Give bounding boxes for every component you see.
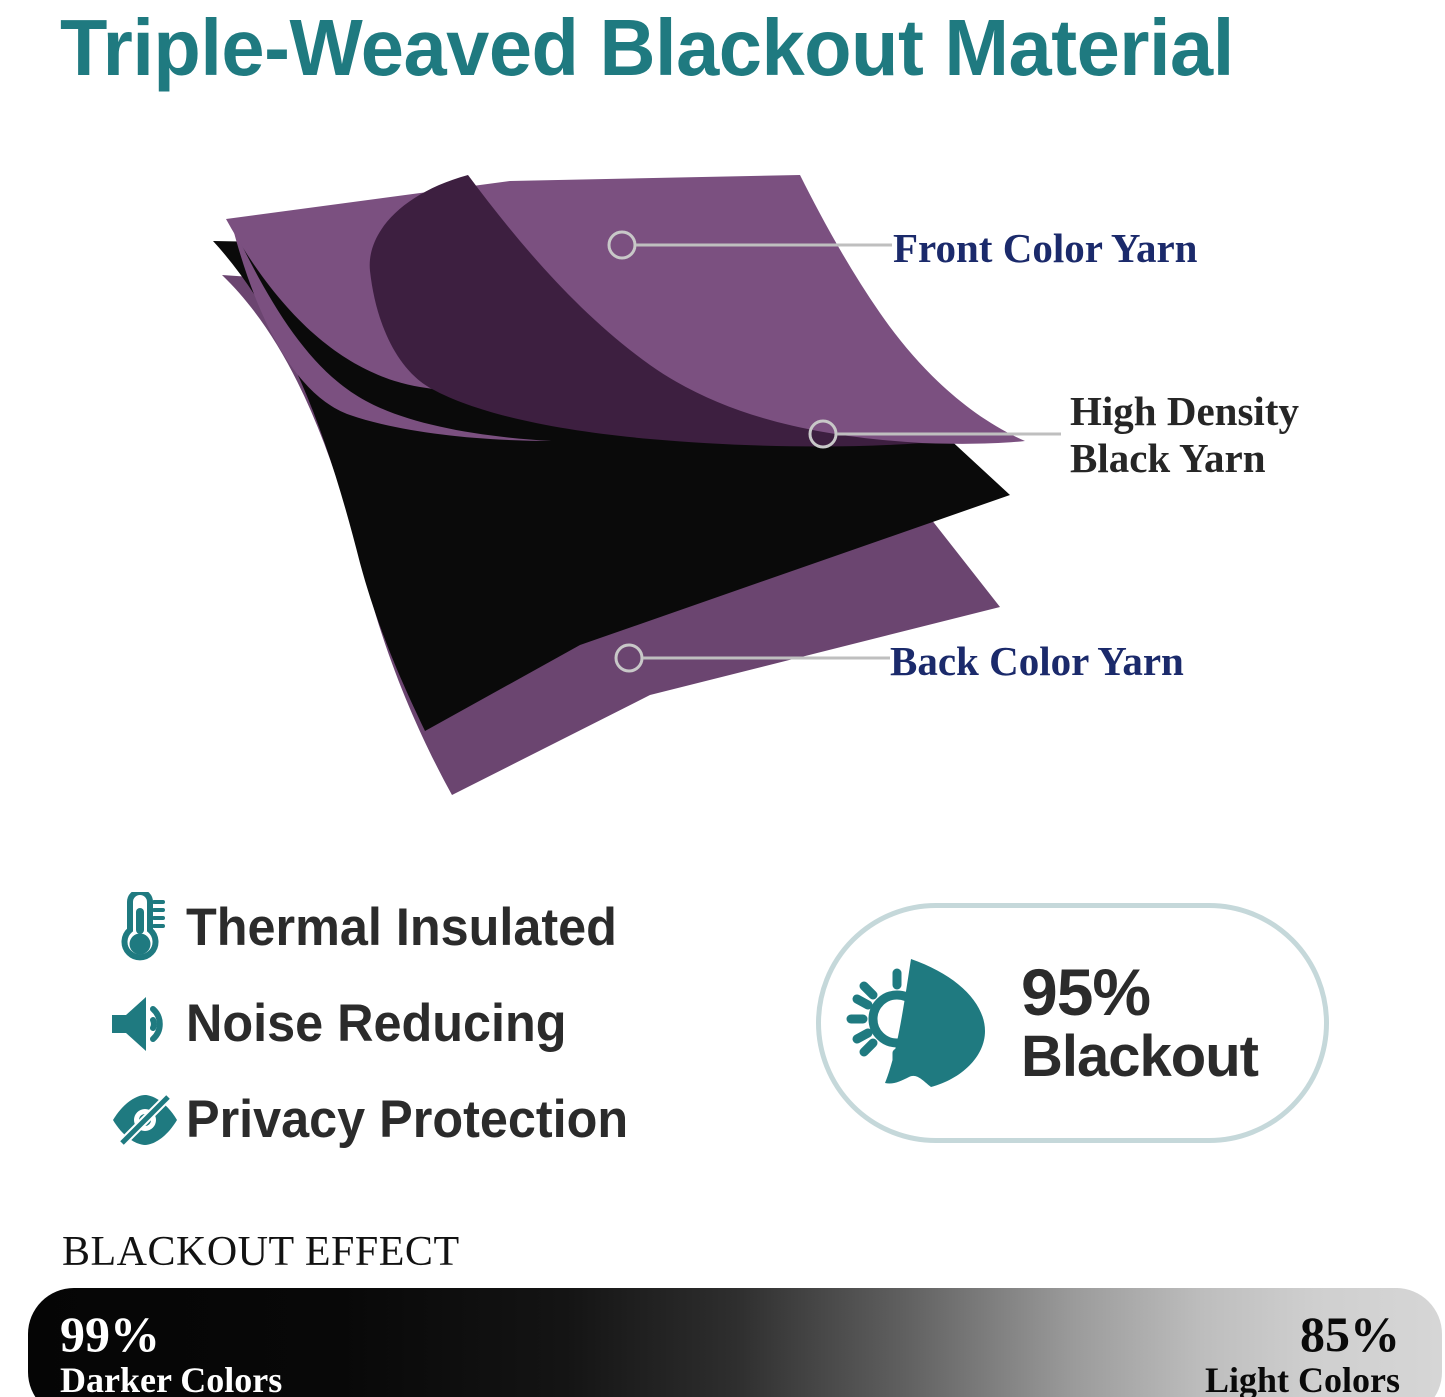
blackout-badge: 95% Blackout	[816, 903, 1329, 1143]
feature-noise-reducing: Noise Reducing	[108, 980, 748, 1068]
callout-label-back: Back Color Yarn	[890, 637, 1184, 685]
blackout-percent: 95%	[1021, 959, 1258, 1027]
callout-label-black-line1: High Density	[1070, 388, 1299, 434]
callout-label-front: Front Color Yarn	[893, 224, 1197, 272]
darker-colors-label: Darker Colors	[60, 1360, 282, 1397]
blackout-effect-gradient-bar: 99% Darker Colors 85% Light Colors	[28, 1288, 1442, 1397]
page-title: Triple-Weaved Blackout Material	[60, 2, 1360, 94]
sun-blocked-by-shade-icon	[821, 953, 1021, 1093]
circle-marker	[609, 232, 635, 258]
darker-colors-stat: 99% Darker Colors	[60, 1308, 282, 1397]
darker-colors-percent: 99%	[60, 1308, 282, 1360]
feature-privacy-protection: Privacy Protection	[108, 1076, 748, 1164]
callout-leader-front	[606, 228, 896, 262]
eye-slash-icon	[108, 1091, 186, 1149]
circle-marker	[616, 645, 642, 671]
callout-leader-black	[806, 417, 1064, 451]
speaker-volume-icon	[108, 993, 186, 1055]
feature-label: Noise Reducing	[186, 994, 566, 1054]
feature-label: Thermal Insulated	[186, 898, 617, 958]
feature-list: Thermal Insulated Noise Reducing	[108, 884, 748, 1172]
callout-leader-back	[612, 641, 894, 675]
thermometer-icon	[108, 892, 186, 964]
blackout-effect-heading: BLACKOUT EFFECT	[62, 1228, 460, 1276]
callout-label-black: High Density Black Yarn	[1070, 388, 1299, 482]
blackout-word: Blackout	[1021, 1027, 1258, 1087]
infographic-page: Triple-Weaved Blackout Material Front Co…	[0, 0, 1445, 1397]
light-colors-percent: 85%	[1205, 1308, 1400, 1360]
feature-thermal-insulated: Thermal Insulated	[108, 884, 748, 972]
light-colors-stat: 85% Light Colors	[1205, 1308, 1400, 1397]
circle-marker	[810, 421, 836, 447]
light-colors-label: Light Colors	[1205, 1360, 1400, 1397]
callout-label-black-line2: Black Yarn	[1070, 435, 1299, 482]
blackout-badge-text: 95% Blackout	[1021, 959, 1258, 1087]
feature-label: Privacy Protection	[186, 1090, 628, 1150]
